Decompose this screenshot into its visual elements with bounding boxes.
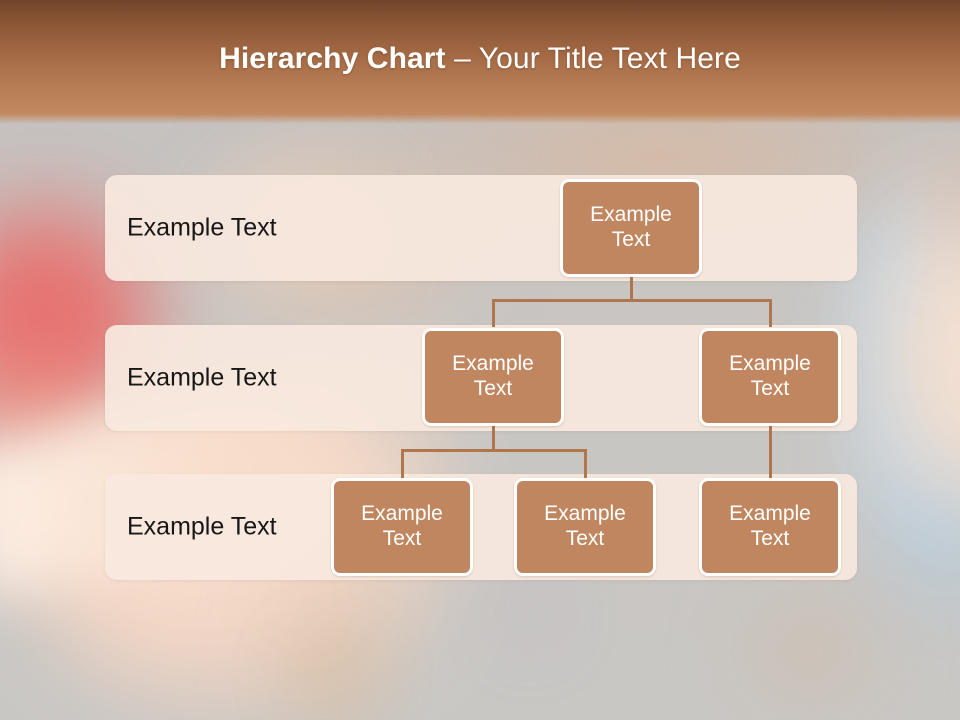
- connector-n3-to-n6: [769, 423, 772, 478]
- node-text-line2: Text: [590, 228, 672, 253]
- hierarchy-row-1[interactable]: Example Text: [105, 175, 857, 281]
- hierarchy-node-3-1[interactable]: Example Text: [331, 478, 473, 576]
- hierarchy-node-1-1[interactable]: Example Text: [560, 179, 702, 277]
- row-label-2: Example Text: [127, 364, 277, 393]
- hierarchy-node-2-1[interactable]: Example Text: [422, 328, 564, 426]
- node-text-line2: Text: [729, 527, 811, 552]
- node-text-line1: Example: [590, 203, 672, 228]
- node-text-line2: Text: [361, 527, 443, 552]
- node-text-line2: Text: [544, 527, 626, 552]
- connector-to-n4: [401, 449, 404, 478]
- connector-n2-down: [492, 423, 495, 451]
- node-text-line1: Example: [452, 352, 534, 377]
- connector-level2-bar: [401, 449, 587, 452]
- hierarchy-chart: Example Text Example Text Example Text E…: [0, 0, 960, 720]
- node-text-line2: Text: [452, 377, 534, 402]
- hierarchy-node-3-2[interactable]: Example Text: [514, 478, 656, 576]
- connector-to-n5: [584, 449, 587, 478]
- connector-to-n2: [492, 299, 495, 327]
- row-label-3: Example Text: [127, 513, 277, 542]
- row-label-1: Example Text: [127, 214, 277, 243]
- node-text-line1: Example: [544, 502, 626, 527]
- node-text-line1: Example: [729, 502, 811, 527]
- connector-level1-bar: [492, 299, 772, 302]
- node-text-line2: Text: [729, 377, 811, 402]
- hierarchy-node-3-3[interactable]: Example Text: [699, 478, 841, 576]
- connector-to-n3: [769, 299, 772, 327]
- connector-n1-down: [630, 273, 633, 301]
- hierarchy-node-2-2[interactable]: Example Text: [699, 328, 841, 426]
- node-text-line1: Example: [729, 352, 811, 377]
- node-text-line1: Example: [361, 502, 443, 527]
